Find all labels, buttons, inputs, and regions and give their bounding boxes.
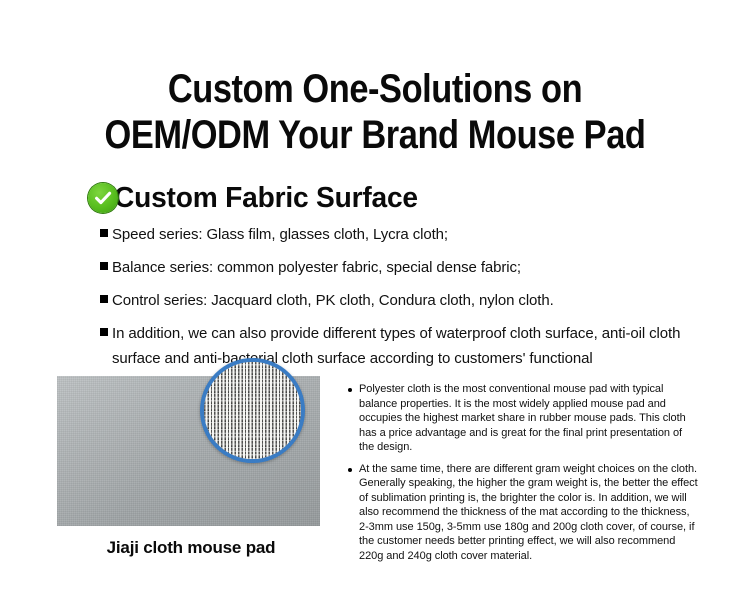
section-heading-label: Custom Fabric Surface bbox=[114, 183, 418, 213]
list-item: Control series: Jacquard cloth, PK cloth… bbox=[100, 288, 700, 313]
list-item-label: At the same time, there are different gr… bbox=[359, 462, 698, 564]
list-item-label: Control series: Jacquard cloth, PK cloth… bbox=[112, 288, 554, 313]
page-title-line-2: OEM/ODM Your Brand Mouse Pad bbox=[53, 112, 698, 158]
square-bullet-icon bbox=[100, 262, 108, 270]
list-item: At the same time, there are different gr… bbox=[348, 462, 698, 564]
round-bullet-icon bbox=[348, 468, 352, 472]
check-circle-icon bbox=[88, 183, 118, 213]
cloth-mouse-pad-photo bbox=[57, 376, 320, 526]
weave-texture-overlay bbox=[204, 362, 301, 459]
square-bullet-icon bbox=[100, 295, 108, 303]
square-bullet-icon bbox=[100, 328, 108, 336]
magnifier-circle bbox=[200, 358, 305, 463]
page-title-line-1: Custom One-Solutions on bbox=[53, 66, 698, 112]
list-item-label: Balance series: common polyester fabric,… bbox=[112, 255, 521, 280]
section-heading: Custom Fabric Surface bbox=[88, 183, 427, 213]
list-item-label: Polyester cloth is the most conventional… bbox=[359, 382, 698, 455]
description-list: Polyester cloth is the most conventional… bbox=[348, 382, 698, 570]
list-item: Speed series: Glass film, glasses cloth,… bbox=[100, 222, 700, 247]
page-title: Custom One-Solutions on OEM/ODM Your Bra… bbox=[0, 66, 750, 158]
square-bullet-icon bbox=[100, 229, 108, 237]
list-item: Balance series: common polyester fabric,… bbox=[100, 255, 700, 280]
list-item-label: Speed series: Glass film, glasses cloth,… bbox=[112, 222, 448, 247]
photo-caption: Jiaji cloth mouse pad bbox=[57, 538, 325, 558]
list-item: Polyester cloth is the most conventional… bbox=[348, 382, 698, 455]
round-bullet-icon bbox=[348, 388, 352, 392]
